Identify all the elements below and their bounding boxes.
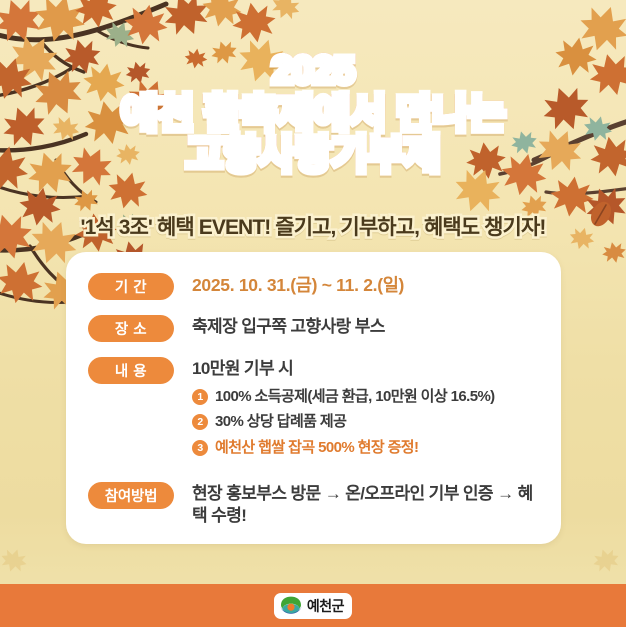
benefit-item: 1 100% 소득공제(세금 환급, 10만원 이상 16.5%): [192, 387, 495, 407]
benefit-item: 2 30% 상당 답례품 제공: [192, 412, 495, 432]
info-row-howto: 참여방법 현장 홍보부스 방문 → 온/오프라인 기부 인증 → 혜택 수령!: [66, 481, 561, 527]
value-location: 축제장 입구쪽 고향사랑 부스: [192, 316, 385, 338]
info-row-content: 내 용 10만원 기부 시 1 100% 소득공제(세금 환급, 10만원 이상…: [66, 356, 561, 463]
county-emblem-icon: [279, 596, 303, 615]
benefit-number-badge: 2: [192, 414, 208, 430]
benefit-text: 예천산 햅쌀 잡곡 500% 현장 증정!: [215, 438, 418, 458]
label-period: 기 간: [88, 273, 174, 300]
poster-title: 2025 예천 활축제에서 만나는 고향사랑기부제: [0, 52, 626, 177]
poster-root: 2025 예천 활축제에서 만나는 고향사랑기부제 '1석 3조' 혜택 EVE…: [0, 0, 626, 627]
poster-subtitle: '1석 3조' 혜택 EVENT! 즐기고, 기부하고, 혜택도 챙기자!: [0, 211, 626, 241]
benefit-text: 100% 소득공제(세금 환급, 10만원 이상 16.5%): [215, 387, 495, 407]
benefit-number-badge: 3: [192, 440, 208, 456]
title-line-year: 2025: [0, 52, 626, 92]
footer-bar: 예천군: [0, 584, 626, 627]
title-line-program: 고향사랑기부제: [0, 135, 626, 177]
label-howto: 참여방법: [88, 482, 174, 509]
title-line-main: 예천 활축제에서 만나는: [0, 94, 626, 136]
info-row-period: 기 간 2025. 10. 31.(금) ~ 11. 2.(일): [66, 272, 561, 300]
value-howto: 현장 홍보부스 방문 → 온/오프라인 기부 인증 → 혜택 수령!: [192, 483, 539, 527]
label-content: 내 용: [88, 357, 174, 384]
yecheon-county-logo: 예천군: [274, 593, 352, 619]
benefit-list: 1 100% 소득공제(세금 환급, 10만원 이상 16.5%) 2 30% …: [192, 387, 495, 458]
info-card: 기 간 2025. 10. 31.(금) ~ 11. 2.(일) 장 소 축제장…: [66, 252, 561, 544]
benefit-text: 30% 상당 답례품 제공: [215, 412, 346, 432]
value-content: 10만원 기부 시: [192, 358, 495, 380]
value-period: 2025. 10. 31.(금) ~ 11. 2.(일): [192, 274, 404, 297]
info-row-location: 장 소 축제장 입구쪽 고향사랑 부스: [66, 314, 561, 342]
county-name: 예천군: [307, 596, 344, 616]
benefit-item: 3 예천산 햅쌀 잡곡 500% 현장 증정!: [192, 438, 495, 458]
label-location: 장 소: [88, 315, 174, 342]
benefit-number-badge: 1: [192, 389, 208, 405]
